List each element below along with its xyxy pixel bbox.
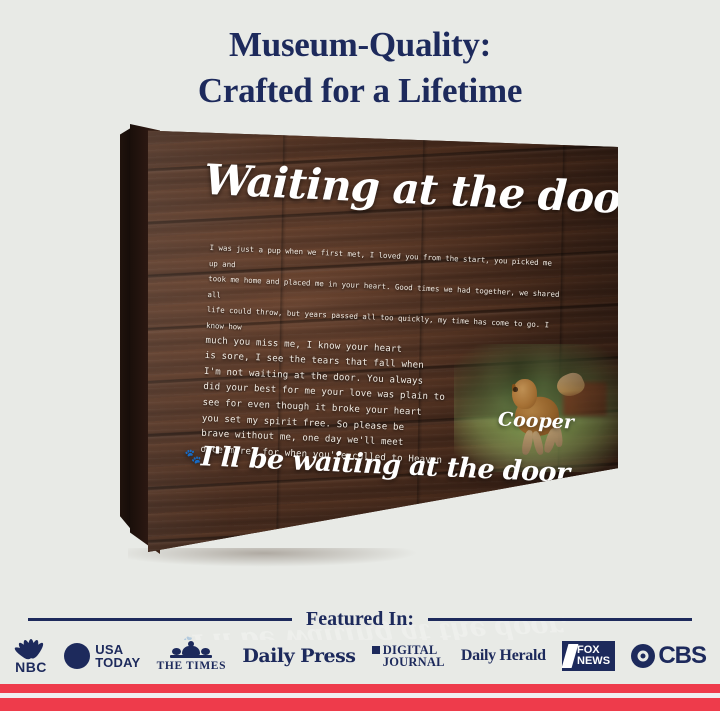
logo-fox-news: FOX NEWS [562, 641, 615, 671]
logo-digital-journal: DIGITAL JOURNAL [372, 644, 445, 669]
artwork-poem: I was just a pup when we first met, I lo… [200, 240, 562, 474]
bottom-stripes [0, 684, 720, 711]
canvas-artwork: Waiting at the door🐾🐾 I was just a pup w… [118, 112, 618, 562]
logo-usa-today-text: USA TODAY [95, 643, 140, 669]
usa-today-circle-icon [64, 643, 90, 669]
divider-right [428, 618, 692, 621]
logo-fox-news-text: FOX NEWS [577, 645, 610, 667]
featured-in-label: Featured In: [306, 608, 414, 631]
times-crest-icon [168, 641, 214, 659]
featured-in-header: Featured In: [0, 608, 720, 631]
paw-print-icon: 🐾 [184, 448, 202, 465]
stripe-top [0, 684, 720, 693]
page-title: Museum-Quality: Crafted for a Lifetime [0, 22, 720, 114]
featured-logo-row: NBC USA TODAY THE TIMES Daily Press DIGI… [0, 632, 720, 680]
logo-nbc-text: NBC [15, 659, 47, 675]
square-bullet-icon [372, 646, 380, 654]
logo-the-times: THE TIMES [157, 641, 226, 672]
divider-left [28, 618, 292, 621]
canvas-face: Waiting at the door🐾🐾 I was just a pup w… [148, 122, 618, 552]
logo-fox-news-line-2: NEWS [577, 656, 610, 667]
page-title-line-2: Crafted for a Lifetime [0, 68, 720, 114]
cbs-eye-icon [631, 644, 655, 668]
logo-daily-herald: Daily Herald [461, 647, 546, 665]
logo-nbc: NBC [14, 638, 48, 675]
logo-usa-today-line-2: TODAY [95, 656, 140, 669]
page-background: Museum-Quality: Crafted for a Lifetime [0, 0, 720, 711]
artwork-signature: Cooper [498, 408, 575, 433]
page-title-line-1: Museum-Quality: [0, 22, 720, 68]
logo-the-times-text: THE TIMES [157, 660, 226, 672]
logo-cbs-text: CBS [658, 642, 706, 670]
logo-usa-today: USA TODAY [64, 643, 140, 669]
logo-cbs: CBS [631, 642, 706, 670]
logo-digital-journal-line-2: JOURNAL [372, 656, 445, 669]
nbc-peacock-icon [14, 638, 48, 658]
fox-slash-icon [562, 644, 579, 668]
logo-daily-press: Daily Press [242, 645, 355, 667]
stripe-bottom [0, 698, 720, 711]
